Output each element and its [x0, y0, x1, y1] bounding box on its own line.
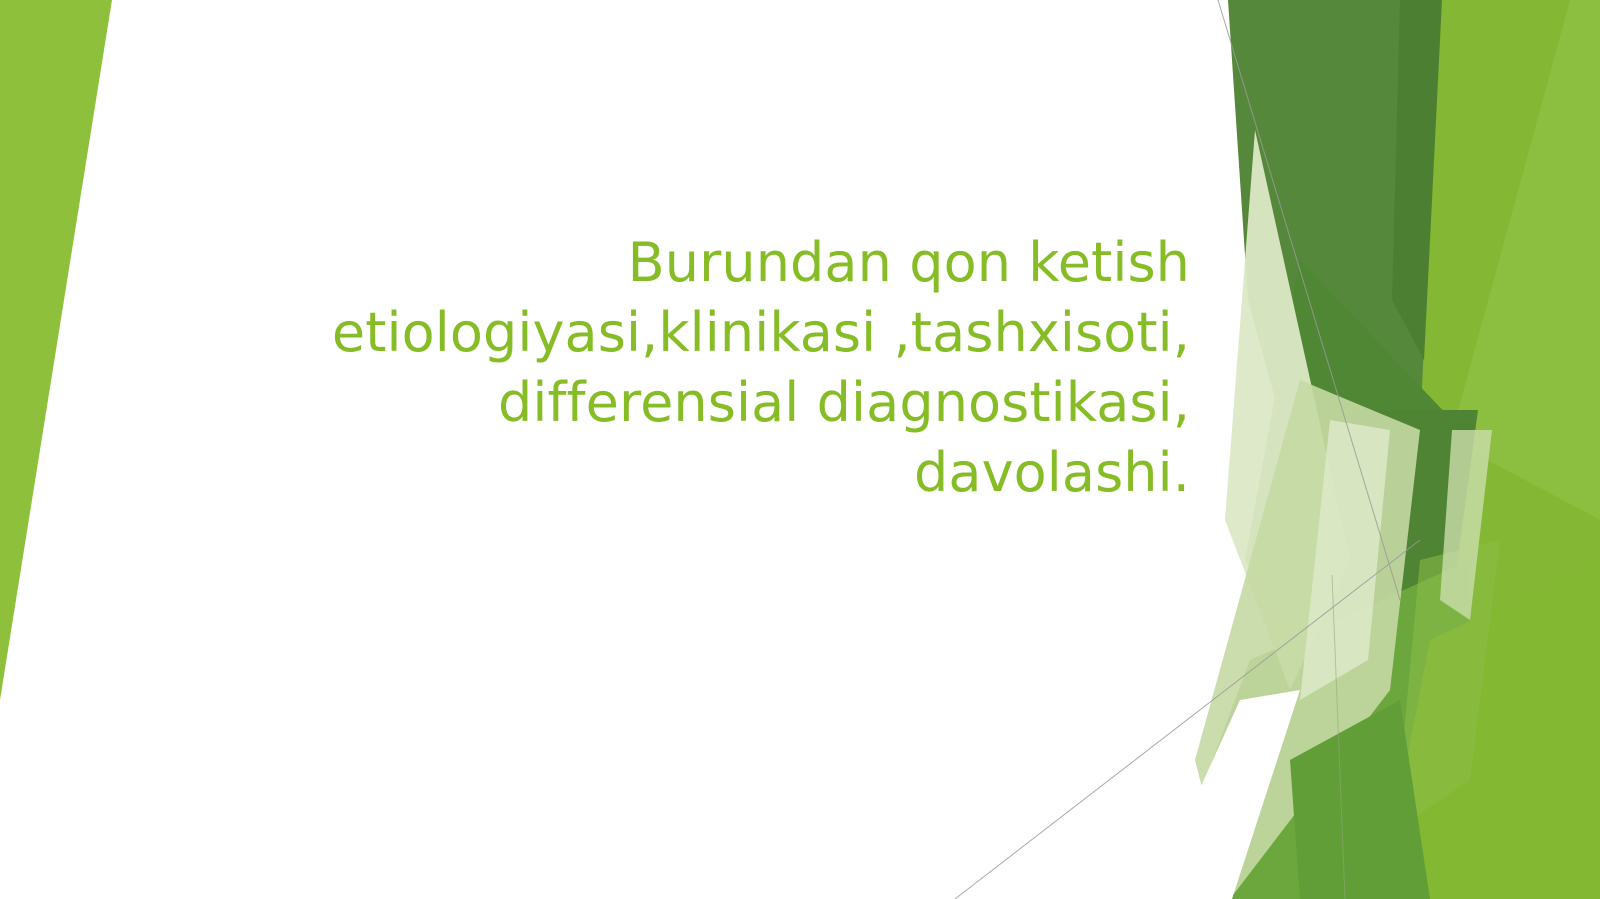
facet-shape-leaf-bottom — [1160, 560, 1470, 899]
title-placeholder[interactable]: Burundan qon ketish etiologiyasi,klinika… — [290, 228, 1190, 508]
presentation-slide: Burundan qon ketish etiologiyasi,klinika… — [0, 0, 1600, 899]
facet-shape-far-right-light — [1420, 0, 1600, 899]
facet-shape-pale-upper — [1225, 130, 1350, 690]
facet-shape-bottom-bright — [1380, 560, 1600, 899]
facet-shape-bright-column — [1330, 0, 1600, 899]
facet-shape-white-notch — [1150, 690, 1300, 899]
facet-shape-verypale-sliver — [1300, 420, 1390, 700]
facet-shape-dark-top-left — [1228, 0, 1440, 600]
facet-shape-mid-dark — [1245, 260, 1460, 760]
facet-shape-pale-lower — [1195, 380, 1420, 899]
hairline-diagonal-upper — [1218, 0, 1400, 600]
page-title: Burundan qon ketish etiologiyasi,klinika… — [290, 228, 1190, 508]
facet-shape-dark-mid-block — [1330, 410, 1478, 700]
facet-shape-translucent-overlay — [1395, 540, 1500, 830]
hairline-vertical-faint — [1332, 575, 1345, 899]
right-facet-shapes — [1150, 0, 1600, 899]
left-green-wedge — [0, 0, 112, 700]
hairline-diagonal-lower — [955, 540, 1420, 899]
facet-shape-deep-sliver-top — [1392, 0, 1442, 360]
facet-shape-pale-right-triangle — [1440, 430, 1492, 620]
facet-shape-leaf-accent — [1290, 700, 1430, 899]
